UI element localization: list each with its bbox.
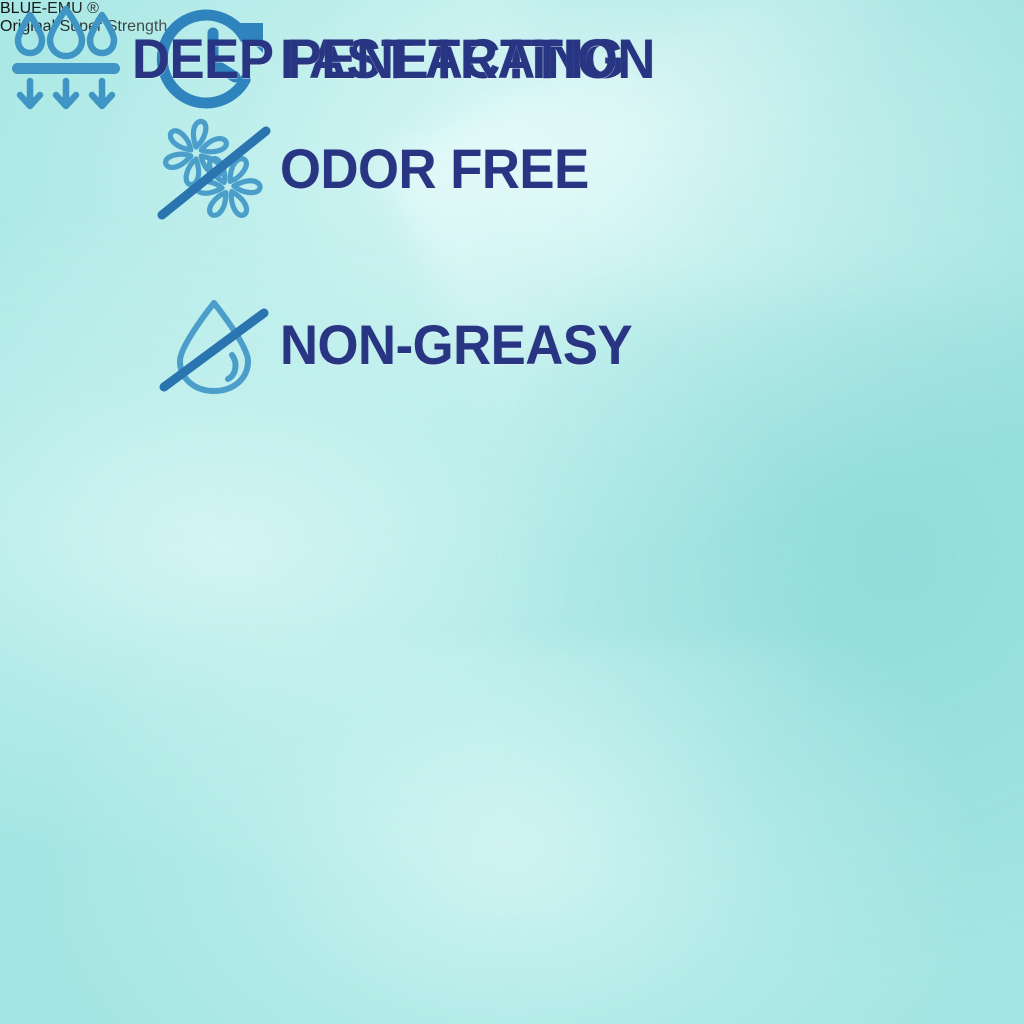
product-feature-graphic: ODOR FREE NON-GREASY [0, 0, 1024, 1024]
water-drop-crossed-out-icon [148, 293, 280, 397]
droplets-down-arrows-icon [0, 7, 132, 111]
background-swirl-bottom [60, 644, 960, 1024]
feature-label: DEEP PENETRATION [132, 31, 655, 87]
feature-item-non-greasy: NON-GREASY [148, 286, 655, 404]
feature-item-deep-penetration: DEEP PENETRATION [0, 0, 688, 118]
feature-item-odor-free: ODOR FREE [148, 110, 608, 228]
flower-crossed-out-icon [148, 117, 280, 221]
feature-label: NON-GREASY [280, 317, 632, 373]
feature-label: ODOR FREE [280, 141, 589, 197]
